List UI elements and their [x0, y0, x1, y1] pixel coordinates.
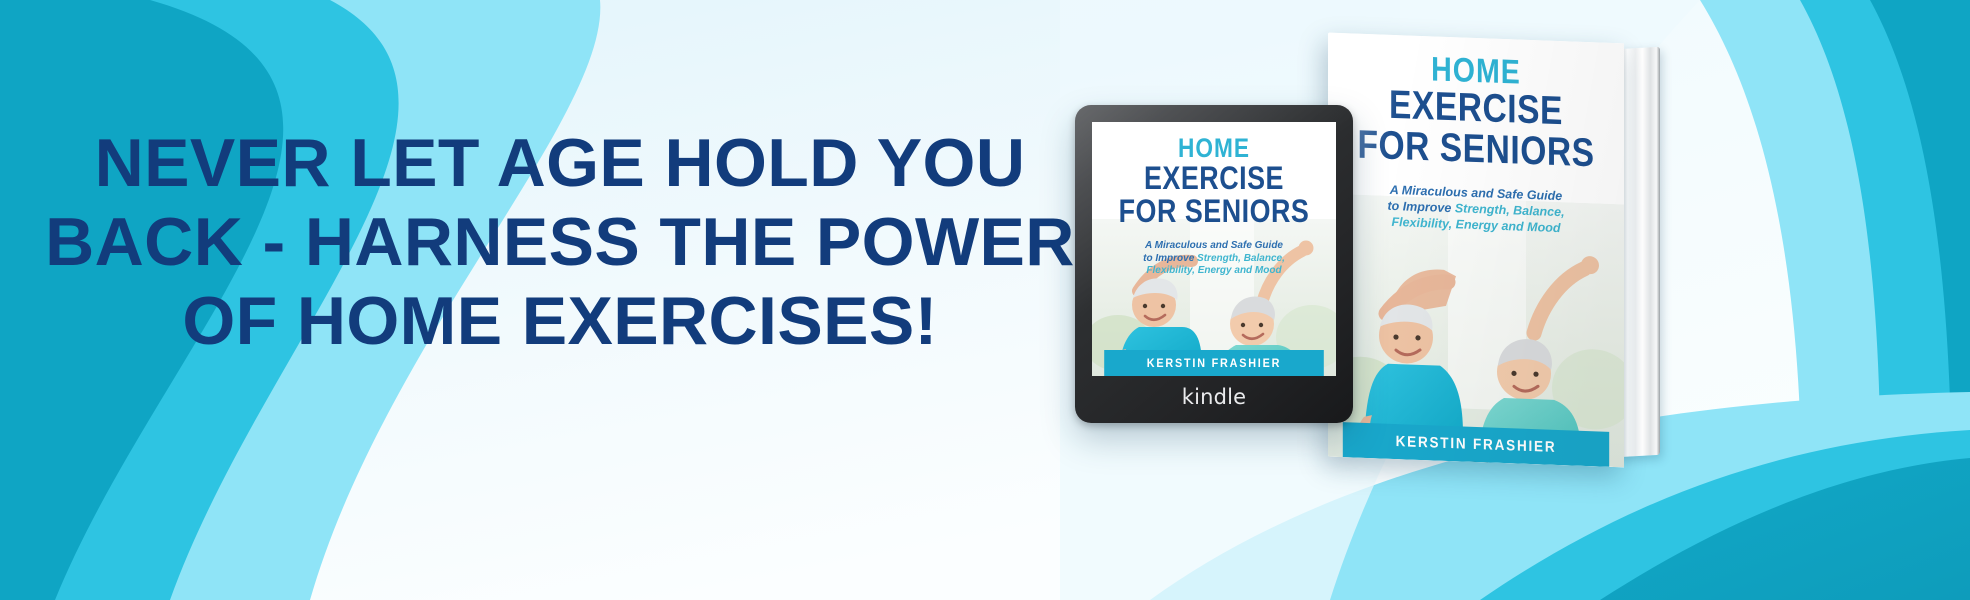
book-cover-artwork: HOME EXERCISE FOR SENIORS A Miraculous a…	[1328, 33, 1624, 468]
cover-subtitle-line-3-accent: Flexibility, Energy and Mood	[1146, 265, 1281, 276]
book-cover-titles: HOME EXERCISE FOR SENIORS A Miraculous a…	[1328, 33, 1624, 239]
kindle-cover-titles: HOME EXERCISE FOR SENIORS A Miraculous a…	[1092, 122, 1336, 278]
hardcover-book: HOME EXERCISE FOR SENIORS A Miraculous a…	[1328, 38, 1658, 468]
kindle-ereader: HOME EXERCISE FOR SENIORS A Miraculous a…	[1075, 105, 1353, 423]
cover-title-for-seniors: FOR SENIORS	[1112, 195, 1317, 228]
cover-subtitle-line-1: A Miraculous and Safe Guide	[1145, 240, 1283, 251]
kindle-cover-artwork: HOME EXERCISE FOR SENIORS A Miraculous a…	[1092, 122, 1336, 376]
cover-title-for-seniors: FOR SENIORS	[1352, 125, 1601, 175]
kindle-brand-label: kindle	[1075, 385, 1353, 409]
book-front-cover: HOME EXERCISE FOR SENIORS A Miraculous a…	[1328, 33, 1624, 468]
promo-banner: NEVER LET AGE HOLD YOU BACK - HARNESS TH…	[0, 0, 1970, 600]
cover-subtitle-line-2-plain: to Improve	[1143, 253, 1197, 264]
cover-title-exercise: EXERCISE	[1112, 162, 1317, 195]
cover-subtitle: A Miraculous and Safe Guide to Improve S…	[1092, 240, 1336, 278]
cover-subtitle-line-2-accent: Strength, Balance,	[1455, 201, 1565, 219]
cover-title-home: HOME	[1112, 135, 1317, 162]
cover-subtitle-line-2-plain: to Improve	[1387, 198, 1454, 214]
product-showcase: HOME EXERCISE FOR SENIORS A Miraculous a…	[1060, 0, 1970, 600]
cover-subtitle-line-2-accent: Strength, Balance,	[1197, 253, 1285, 264]
kindle-screen: HOME EXERCISE FOR SENIORS A Miraculous a…	[1092, 122, 1336, 376]
cover-author-band: KERSTIN FRASHIER	[1104, 350, 1324, 376]
